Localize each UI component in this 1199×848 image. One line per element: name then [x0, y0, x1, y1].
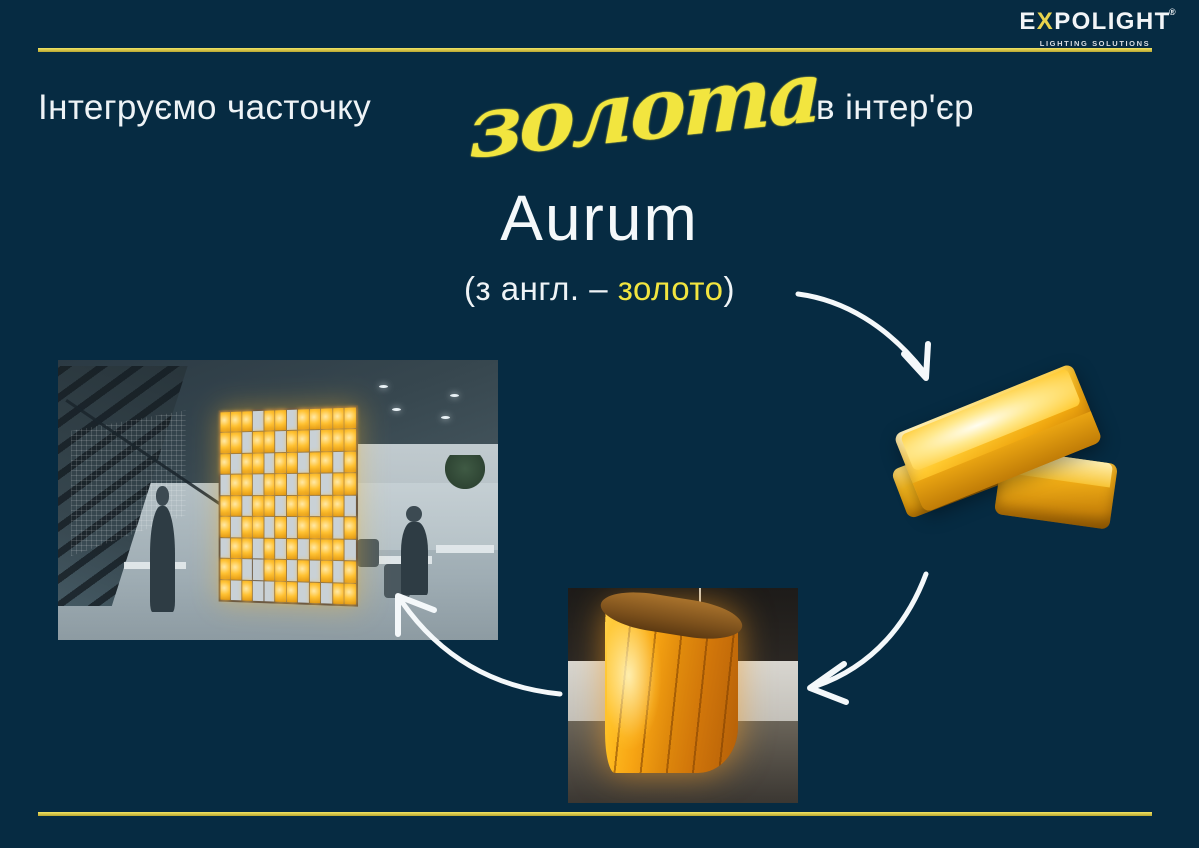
aurum-sub-open: (з англ. – — [464, 270, 618, 307]
arrow-lamp-to-office-icon — [388, 588, 568, 708]
registered-trademark-icon: ® — [1169, 8, 1177, 17]
light-wall-tile — [265, 538, 275, 558]
light-wall-tile — [322, 452, 333, 473]
light-wall-tile — [276, 474, 286, 494]
light-wall-tile — [265, 453, 275, 473]
light-wall-tile — [243, 432, 253, 452]
light-wall-tile — [333, 539, 344, 560]
aurum-sub-gold-word: золото — [618, 270, 724, 307]
light-wall-tile — [276, 559, 286, 580]
light-wall-tile — [345, 583, 356, 604]
light-wall-tile — [299, 517, 309, 538]
ceiling-spot-icon — [441, 416, 450, 419]
light-wall-tile — [299, 409, 309, 430]
light-wall-tile — [322, 539, 333, 560]
light-wall-tile — [221, 558, 231, 578]
light-wall-tile — [232, 496, 242, 516]
light-wall-tile — [243, 411, 253, 431]
light-wall-tile — [287, 431, 297, 452]
logo-letter-e: E — [1019, 8, 1036, 35]
gold-light-wall-partition — [219, 405, 358, 606]
light-wall-tile — [276, 538, 286, 559]
gold-bars-illustration — [888, 370, 1124, 570]
light-wall-tile — [333, 495, 344, 516]
light-wall-tile — [333, 451, 344, 472]
light-wall-tile — [265, 410, 275, 431]
ceiling-spot-icon — [392, 408, 401, 411]
light-wall-tile — [322, 473, 333, 494]
light-wall-tile — [232, 517, 242, 537]
light-wall-tile — [333, 408, 344, 429]
light-wall-tile — [322, 560, 333, 581]
light-wall-tile — [265, 559, 275, 580]
light-wall-tile — [254, 474, 264, 494]
light-wall-tile — [254, 453, 264, 473]
aurum-translation: (з англ. – золото) — [0, 270, 1199, 308]
light-wall-tile — [232, 538, 242, 558]
light-wall-tile — [265, 474, 275, 494]
light-wall-tile — [287, 517, 297, 538]
light-wall-tile — [221, 433, 231, 453]
hanging-plant — [445, 455, 485, 489]
light-wall-tile — [265, 431, 275, 452]
light-wall-tile — [322, 430, 333, 451]
arrow-subtitle-to-bars-icon — [796, 282, 956, 392]
light-wall-tile — [333, 561, 344, 582]
light-wall-tile — [299, 430, 309, 451]
light-wall-tile — [232, 474, 242, 494]
light-wall-tile — [221, 579, 231, 599]
light-wall-tile — [310, 452, 321, 473]
desk — [436, 545, 493, 553]
light-wall-tile — [254, 410, 264, 431]
logo-letters-rest: POLIGHT — [1054, 8, 1170, 35]
light-wall-tile — [232, 559, 242, 579]
headline-left-text: Інтегруємо часточку — [38, 82, 371, 134]
light-wall-tile — [287, 538, 297, 559]
light-wall-tile — [333, 582, 344, 603]
light-wall-tile — [345, 429, 356, 450]
light-wall-tile — [322, 408, 333, 429]
light-wall-tile — [221, 517, 231, 537]
light-wall-tile — [310, 408, 321, 429]
logo-wordmark: EXPOLIGHT® — [1015, 10, 1175, 34]
light-wall-tile — [322, 495, 333, 516]
light-wall-tile — [243, 474, 253, 494]
light-wall-tile — [322, 582, 333, 603]
top-gold-divider — [38, 48, 1152, 52]
light-wall-tile — [243, 538, 253, 558]
light-wall-tile — [345, 495, 356, 516]
aurum-sub-close: ) — [724, 270, 736, 307]
light-wall-tile — [276, 517, 286, 537]
light-wall-tile — [265, 517, 275, 537]
light-wall-tile — [254, 517, 264, 537]
light-wall-tile — [299, 495, 309, 516]
light-wall-tile — [299, 560, 309, 581]
light-wall-tile — [221, 412, 231, 432]
headline: Інтегруємо часточку золота в інтер'єр — [38, 82, 1038, 142]
light-wall-tile — [310, 474, 321, 495]
light-wall-tile — [276, 410, 286, 431]
headline-right-text: в інтер'єр — [816, 82, 974, 134]
light-wall-tile — [310, 430, 321, 451]
light-wall-tile — [310, 495, 321, 516]
light-wall-tile — [254, 495, 264, 515]
arrow-bars-to-lamp-icon — [800, 568, 970, 718]
light-wall-tile — [276, 431, 286, 452]
light-wall-tile — [299, 452, 309, 473]
light-wall-tile — [345, 451, 356, 472]
logo-letter-x-gold: X — [1037, 8, 1054, 35]
light-wall-tile — [232, 453, 242, 473]
light-wall-tile — [254, 538, 264, 558]
light-wall-tile — [287, 581, 297, 602]
light-wall-tile — [276, 452, 286, 473]
ceiling-spot-icon — [450, 394, 459, 397]
light-wall-tile — [287, 474, 297, 495]
pendant-luminaire-image — [568, 588, 798, 803]
page-title: Aurum — [0, 186, 1199, 250]
light-wall-tile — [243, 580, 253, 600]
light-wall-tile — [232, 432, 242, 452]
person-walking — [150, 506, 174, 612]
person-seated — [401, 522, 427, 595]
light-wall-tile — [232, 580, 242, 600]
light-wall-tile — [287, 495, 297, 516]
aurum-block: Aurum (з англ. – золото) — [0, 186, 1199, 308]
logo-tagline: LIGHTING SOLUTIONS — [1015, 39, 1175, 48]
light-wall-tile — [243, 453, 253, 473]
light-wall-tile — [299, 581, 309, 602]
light-wall-tile — [265, 581, 275, 602]
light-wall-tile — [232, 411, 242, 431]
light-wall-tile — [345, 407, 356, 428]
light-wall-tile — [299, 474, 309, 495]
light-wall-tile — [254, 580, 264, 601]
light-wall-tile — [310, 517, 321, 538]
light-wall-tile — [345, 473, 356, 494]
light-wall-tile — [333, 517, 344, 538]
light-wall-tile — [287, 452, 297, 473]
light-wall-tile — [276, 581, 286, 602]
light-wall-tile — [333, 473, 344, 494]
light-wall-tile — [310, 539, 321, 560]
light-wall-tile — [276, 495, 286, 515]
light-wall-tile — [310, 582, 321, 603]
light-wall-tile — [221, 454, 231, 474]
light-wall-tile — [221, 475, 231, 495]
slide-canvas: EXPOLIGHT® LIGHTING SOLUTIONS Інтегруємо… — [0, 0, 1199, 848]
light-wall-tile — [333, 429, 344, 450]
light-wall-tile — [254, 559, 264, 579]
light-wall-tile — [345, 517, 356, 538]
bottom-gold-divider — [38, 812, 1152, 816]
light-wall-tile — [322, 517, 333, 538]
office-chair — [357, 539, 379, 567]
expolight-logo[interactable]: EXPOLIGHT® LIGHTING SOLUTIONS — [1015, 10, 1175, 48]
light-wall-tile — [345, 539, 356, 560]
light-wall-tile — [265, 495, 275, 515]
light-wall-tile — [243, 517, 253, 537]
headline-script-gold-word: золота — [469, 41, 820, 177]
light-wall-tile — [345, 561, 356, 582]
light-wall-tile — [287, 560, 297, 581]
light-wall-tile — [310, 560, 321, 581]
light-wall-tile — [243, 559, 253, 579]
light-wall-tile — [287, 409, 297, 430]
light-wall-tile — [221, 496, 231, 516]
light-wall-tile — [243, 495, 253, 515]
light-wall-tile — [221, 537, 231, 557]
light-wall-tile — [299, 538, 309, 559]
light-wall-tile — [254, 432, 264, 452]
